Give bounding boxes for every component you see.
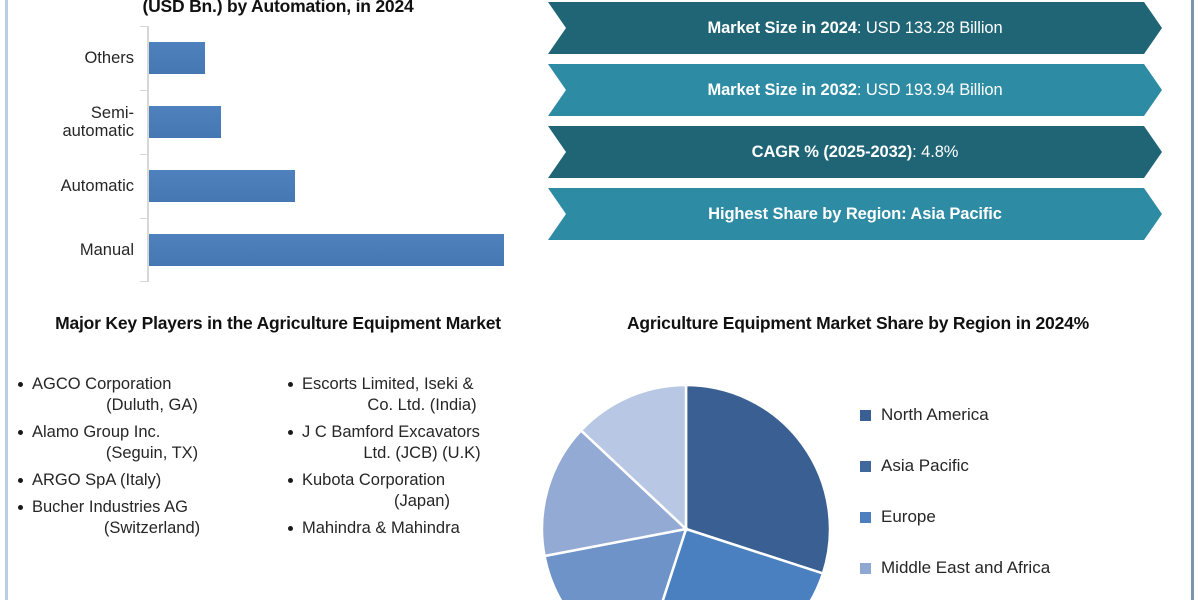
player-location-line2: Ltd. (JCB) (U.K)	[302, 443, 542, 464]
pie-chart-legend: North America Asia Pacific Europe Middle…	[860, 398, 1180, 600]
pie-chart-title: Agriculture Equipment Market Share by Re…	[548, 312, 1168, 335]
bullet-icon	[18, 505, 23, 510]
pie-chart-graphic	[538, 374, 838, 600]
bullet-icon	[288, 478, 293, 483]
banner-label-bold: Market Size in 2024	[707, 19, 856, 37]
key-players-column-left: AGCO Corporation (Duluth, GA) Alamo Grou…	[14, 374, 272, 545]
list-item: Kubota Corporation (Japan)	[284, 470, 542, 512]
banner-market-size-2032: Market Size in 2032: USD 193.94 Billion	[548, 64, 1162, 116]
list-item: AGCO Corporation (Duluth, GA)	[14, 374, 272, 416]
player-name-line1: ARGO SpA (Italy)	[32, 470, 272, 491]
bar-category-label-line2: automatic	[62, 122, 134, 140]
bar-row-manual: Manual	[14, 218, 542, 282]
bullet-icon	[288, 382, 293, 387]
bar-category-label: Manual	[14, 218, 142, 282]
infographic-page: (USD Bn.) by Automation, in 2024 Others …	[0, 0, 1200, 600]
list-item: Alamo Group Inc. (Seguin, TX)	[14, 422, 272, 464]
list-item: Bucher Industries AG (Switzerland)	[14, 497, 272, 539]
key-players-title: Major Key Players in the Agriculture Equ…	[14, 312, 542, 335]
player-name-line1: Bucher Industries AG	[32, 497, 272, 518]
bar-category-label-line1: Others	[84, 49, 134, 67]
banner-label-rest: : 4.8%	[912, 143, 958, 161]
player-location-line2: Co. Ltd. (India)	[302, 395, 542, 416]
bar-manual	[149, 234, 504, 266]
player-location-line2: (Switzerland)	[32, 518, 272, 539]
bullet-icon	[288, 526, 293, 531]
key-players-panel: Major Key Players in the Agriculture Equ…	[14, 312, 542, 600]
player-name-line1: Alamo Group Inc.	[32, 422, 272, 443]
key-players-column-right: Escorts Limited, Iseki & Co. Ltd. (India…	[284, 374, 542, 545]
bar-row-automatic: Automatic	[14, 154, 542, 218]
player-location-line2: (Seguin, TX)	[32, 443, 272, 464]
player-location-line2: (Japan)	[302, 491, 542, 512]
banner-market-size-2024: Market Size in 2024: USD 133.28 Billion	[548, 2, 1162, 54]
bar-chart-panel: (USD Bn.) by Automation, in 2024 Others …	[14, 0, 542, 300]
legend-item-north-america: North America	[860, 398, 1180, 432]
banner-label-rest: : USD 193.94 Billion	[857, 81, 1003, 99]
legend-label: Middle East and Africa	[881, 558, 1050, 578]
key-players-columns: AGCO Corporation (Duluth, GA) Alamo Grou…	[14, 374, 542, 545]
bullet-icon	[18, 430, 23, 435]
legend-swatch-icon	[860, 461, 871, 472]
list-item: J C Bamford Excavators Ltd. (JCB) (U.K)	[284, 422, 542, 464]
bar-chart-title: (USD Bn.) by Automation, in 2024	[14, 0, 542, 17]
bar-row-others: Others	[14, 26, 542, 90]
legend-label: North America	[881, 405, 989, 425]
bar-category-label-line1: Semi-	[62, 104, 134, 122]
banner-label-rest: : USD 133.28 Billion	[857, 19, 1003, 37]
banner-highest-share-region: Highest Share by Region: Asia Pacific	[548, 188, 1162, 240]
player-name-line1: AGCO Corporation	[32, 374, 272, 395]
pie-chart-panel: Agriculture Equipment Market Share by Re…	[548, 312, 1192, 600]
bullet-icon	[18, 382, 23, 387]
legend-item-asia-pacific: Asia Pacific	[860, 449, 1180, 483]
bar-row-semi-automatic: Semi- automatic	[14, 90, 542, 154]
pie-chart-svg	[538, 374, 838, 600]
banner-market-size-2032-text: Market Size in 2032: USD 193.94 Billion	[707, 81, 1002, 100]
legend-swatch-icon	[860, 563, 871, 574]
legend-swatch-icon	[860, 410, 871, 421]
banner-label-bold: Highest Share by Region: Asia Pacific	[708, 205, 1002, 223]
player-name-line1: Kubota Corporation	[302, 470, 542, 491]
bar-category-label: Others	[14, 26, 142, 90]
bar-category-label-line1: Manual	[80, 241, 134, 259]
bar-chart-plot-area: Others Semi- automatic Automatic	[14, 26, 542, 282]
banner-highest-share-region-text: Highest Share by Region: Asia Pacific	[708, 205, 1002, 224]
legend-swatch-icon	[860, 512, 871, 523]
bar-others	[149, 42, 205, 74]
left-border-line	[5, 0, 8, 600]
list-item: Mahindra & Mahindra	[284, 518, 542, 539]
bar-automatic	[149, 170, 295, 202]
banner-market-size-2024-text: Market Size in 2024: USD 133.28 Billion	[707, 19, 1002, 38]
bullet-icon	[288, 430, 293, 435]
list-item: Escorts Limited, Iseki & Co. Ltd. (India…	[284, 374, 542, 416]
list-item: ARGO SpA (Italy)	[14, 470, 272, 491]
banner-cagr-text: CAGR % (2025-2032): 4.8%	[752, 143, 959, 162]
legend-item-europe: Europe	[860, 500, 1180, 534]
legend-label: Asia Pacific	[881, 456, 969, 476]
player-name-line1: Escorts Limited, Iseki &	[302, 374, 542, 395]
banner-label-bold: CAGR % (2025-2032)	[752, 143, 913, 161]
bar-category-label: Semi- automatic	[14, 90, 142, 154]
legend-label: Europe	[881, 507, 936, 527]
legend-item-middle-east-and-africa: Middle East and Africa	[860, 551, 1180, 585]
banner-cagr: CAGR % (2025-2032): 4.8%	[548, 126, 1162, 178]
bar-semi-automatic	[149, 106, 221, 138]
bullet-icon	[18, 478, 23, 483]
player-name-line1: J C Bamford Excavators	[302, 422, 542, 443]
player-name-line1: Mahindra & Mahindra	[302, 518, 542, 539]
key-metrics-banner-panel: Market Size in 2024: USD 133.28 Billion …	[548, 2, 1192, 274]
bar-category-label: Automatic	[14, 154, 142, 218]
banner-label-bold: Market Size in 2032	[707, 81, 856, 99]
bar-category-label-line1: Automatic	[61, 177, 134, 195]
player-location-line2: (Duluth, GA)	[32, 395, 272, 416]
